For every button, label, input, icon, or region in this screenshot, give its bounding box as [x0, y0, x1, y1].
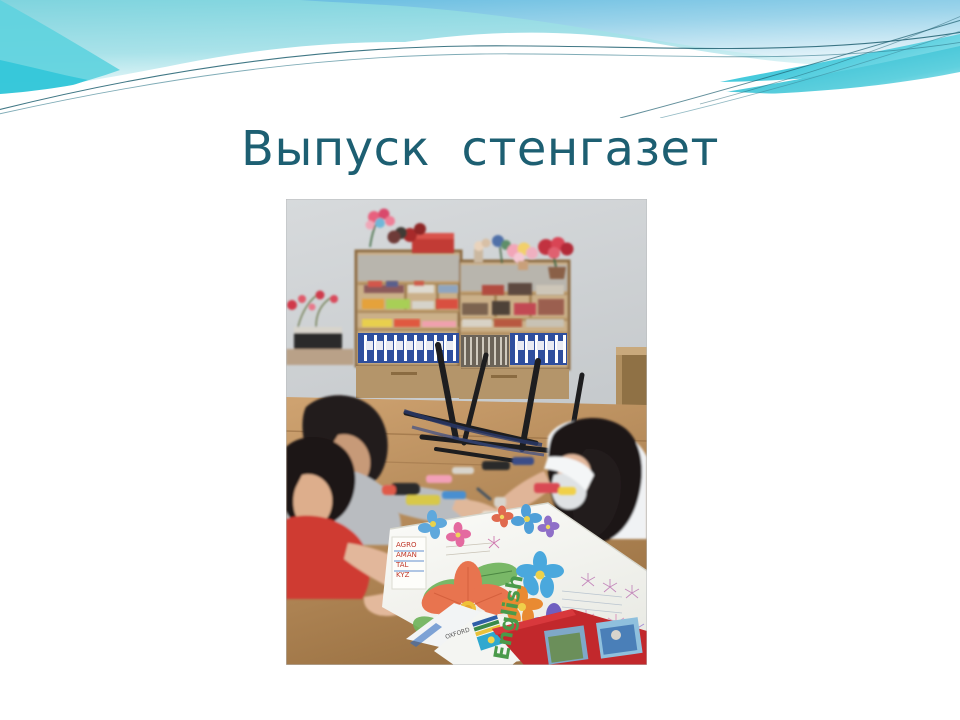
svg-text:AGRO: AGRO [396, 541, 417, 549]
svg-text:KYZ: KYZ [396, 571, 410, 579]
svg-text:TAL: TAL [395, 561, 409, 569]
slide-title: Выпуск стенгазет [0, 124, 960, 175]
classroom-photo: AGRO AMAN TAL KYZ [286, 199, 647, 665]
presentation-slide: Выпуск стенгазет [0, 0, 960, 720]
decorative-wave-banner [0, 0, 960, 118]
svg-text:AMAN: AMAN [396, 551, 417, 559]
